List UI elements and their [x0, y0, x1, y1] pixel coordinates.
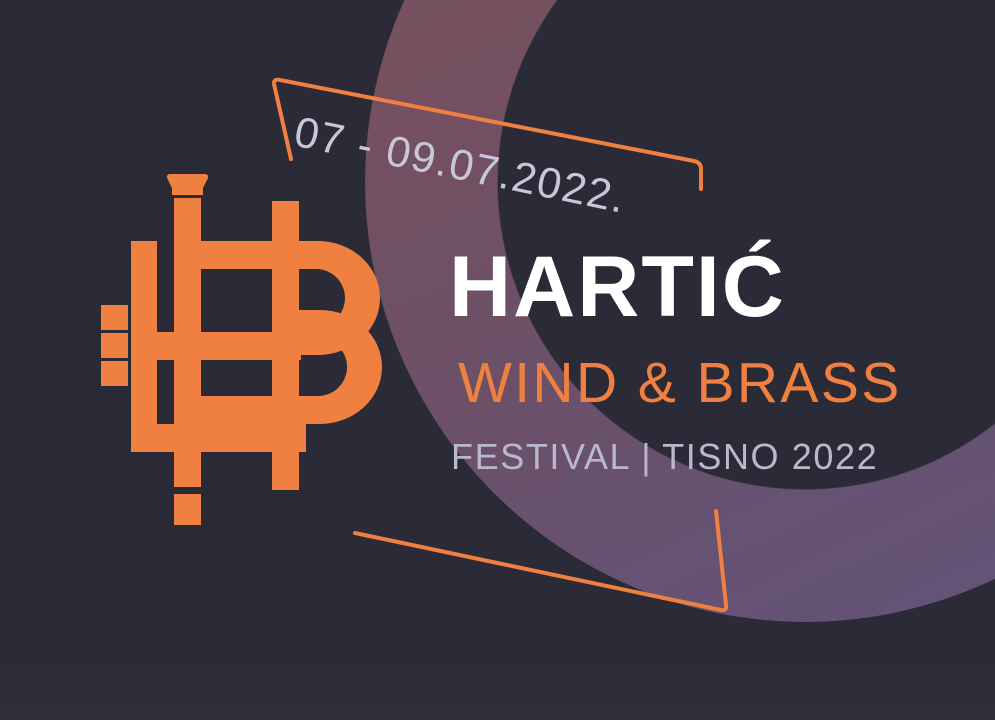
festival-title: HARTIĆ	[449, 248, 869, 327]
hartic-logo-mark	[96, 160, 408, 530]
festival-tagline: FESTIVAL|TISNO 2022	[451, 439, 869, 475]
festival-subtitle: WIND & BRASS	[458, 355, 869, 412]
background-panel-bottom-edge	[0, 698, 995, 720]
logo-piston-cap	[167, 174, 208, 195]
poster-canvas: 07 - 09.07.2022.	[0, 0, 995, 720]
logo-valve-tab-2	[101, 333, 128, 358]
wordmark-block: HARTIĆ WIND & BRASS FESTIVAL|TISNO 2022	[449, 248, 869, 475]
tagline-separator: |	[631, 436, 662, 477]
tagline-location-year: TISNO 2022	[662, 436, 878, 477]
logo-valve-tab-1	[101, 305, 128, 330]
logo-valve-tab-3	[101, 361, 128, 386]
tagline-festival-label: FESTIVAL	[451, 436, 631, 477]
logo-piston-button	[174, 494, 201, 525]
